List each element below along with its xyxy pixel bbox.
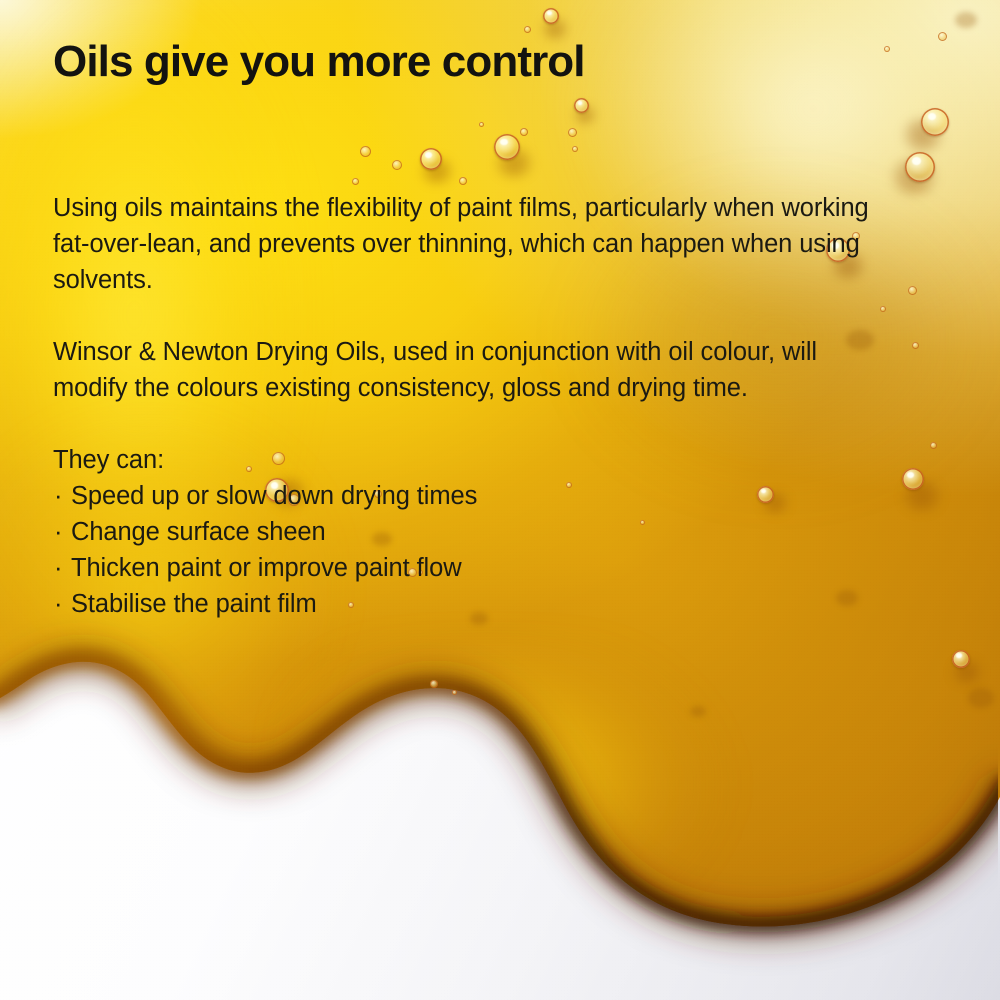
paragraph-2: Winsor & Newton Drying Oils, used in con… xyxy=(53,334,883,406)
list-item-label: Stabilise the paint film xyxy=(71,590,317,618)
list-item: · Change surface sheen xyxy=(53,514,883,550)
bullet-icon: · xyxy=(54,478,62,514)
list-item: · Stabilise the paint film xyxy=(53,586,883,622)
list-item-label: Speed up or slow down drying times xyxy=(71,482,477,510)
benefits-list: · Speed up or slow down drying times · C… xyxy=(53,478,883,622)
benefits-block: They can: · Speed up or slow down drying… xyxy=(53,442,883,622)
list-item: · Speed up or slow down drying times xyxy=(53,478,883,514)
list-item-label: Change surface sheen xyxy=(71,518,326,546)
page-title: Oils give you more control xyxy=(53,38,585,86)
benefits-intro: They can: xyxy=(53,442,883,478)
list-item: · Thicken paint or improve paint flow xyxy=(53,550,883,586)
bullet-icon: · xyxy=(54,586,62,622)
poster-body: Using oils maintains the flexibility of … xyxy=(53,190,883,622)
list-item-label: Thicken paint or improve paint flow xyxy=(71,554,462,582)
poster-canvas: Oils give you more control Using oils ma… xyxy=(0,0,1000,1000)
bullet-icon: · xyxy=(54,550,62,586)
bullet-icon: · xyxy=(54,514,62,550)
paragraph-1: Using oils maintains the flexibility of … xyxy=(53,190,883,298)
